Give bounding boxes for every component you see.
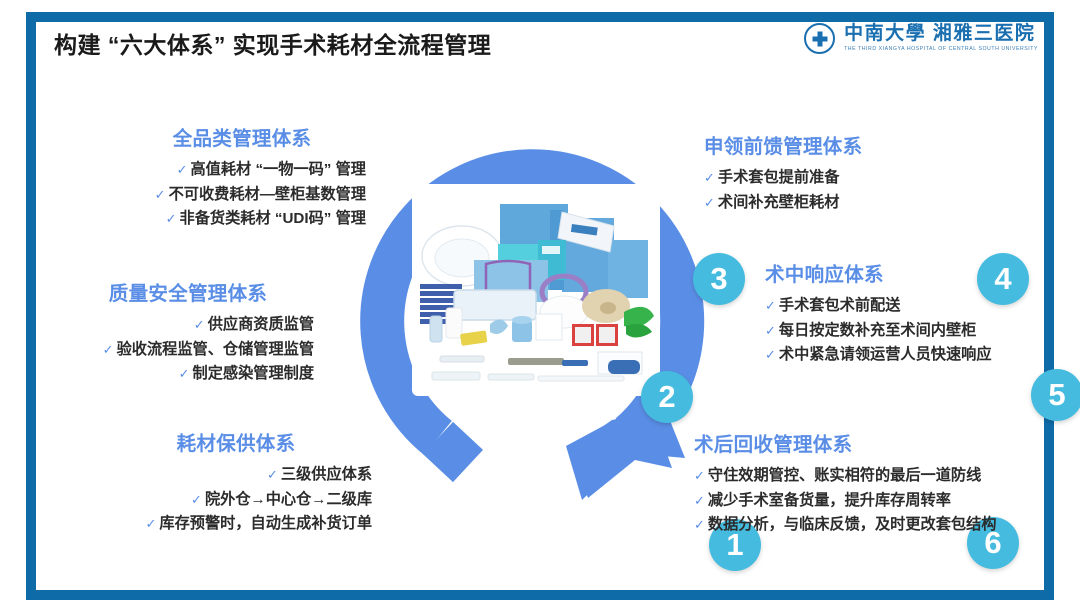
check-icon: ✓: [166, 211, 177, 226]
list-item: ✓手术套包提前准备: [704, 166, 994, 191]
check-icon: ✓: [177, 162, 188, 177]
list-item: ✓守住效期管控、账实相符的最后一道防线: [694, 464, 1024, 489]
list-item: ✓减少手术室备货量，提升库存周转率: [694, 489, 1024, 514]
hospital-name-en: THE THIRD XIANGYA HOSPITAL OF CENTRAL SO…: [844, 47, 1038, 52]
cycle-badge-2[interactable]: 2: [641, 371, 693, 423]
system-block-4-title: 申领前馈管理体系: [704, 130, 994, 159]
badge-label: 3: [710, 263, 727, 294]
hospital-logo-text: 中南大學 湘雅三医院 THE THIRD XIANGYA HOSPITAL OF…: [844, 24, 1038, 52]
system-block-3-title: 全品类管理体系: [118, 122, 366, 151]
check-icon: ✓: [145, 516, 156, 531]
system-block-4-list: ✓手术套包提前准备 ✓术间补充壁柜耗材: [704, 166, 994, 215]
system-block-1-title: 耗材保供体系: [100, 427, 372, 456]
check-icon: ✓: [704, 170, 715, 185]
check-icon: ✓: [155, 187, 166, 202]
list-item: ✓术中紧急请领运营人员快速响应: [765, 343, 1055, 368]
list-item: ✓验收流程监管、仓储管理监管: [62, 338, 314, 363]
hospital-logo: 中南大學 湘雅三医院 THE THIRD XIANGYA HOSPITAL OF…: [804, 23, 1038, 54]
system-block-3: 全品类管理体系 ✓高值耗材 “一物一码” 管理 ✓不可收费耗材—壁柜基数管理 ✓…: [118, 122, 366, 232]
check-icon: ✓: [194, 317, 205, 332]
system-block-5: 术中响应体系 ✓手术套包术前配送 ✓每日按定数补充至术间内壁柜 ✓术中紧急请领运…: [765, 258, 1055, 368]
list-item: ✓每日按定数补充至术间内壁柜: [765, 319, 1055, 344]
list-item-text: 供应商资质监管: [208, 316, 314, 333]
check-icon: ✓: [103, 342, 114, 357]
hospital-cross-emblem-icon: [804, 23, 835, 54]
system-block-4: 申领前馈管理体系 ✓手术套包提前准备 ✓术间补充壁柜耗材: [704, 130, 994, 215]
list-item: ✓手术套包术前配送: [765, 294, 1055, 319]
surgical-supply-kit-photo: [412, 184, 660, 396]
badge-label: 5: [1048, 379, 1065, 410]
list-item: ✓非备货类耗材 “UDI码” 管理: [118, 207, 366, 232]
list-item-text: 手术套包术前配送: [779, 297, 901, 314]
slide-root: 构建 “六大体系” 实现手术耗材全流程管理 中南大學 湘雅三医院 THE THI…: [0, 0, 1080, 612]
system-block-3-list: ✓高值耗材 “一物一码” 管理 ✓不可收费耗材—壁柜基数管理 ✓非备货类耗材 “…: [118, 158, 366, 232]
check-icon: ✓: [694, 468, 705, 483]
system-block-5-title: 术中响应体系: [765, 258, 1055, 287]
list-item: ✓术间补充壁柜耗材: [704, 191, 994, 216]
list-item-text: 数据分析，与临床反馈，及时更改套包结构: [708, 516, 997, 533]
check-icon: ✓: [765, 347, 776, 362]
list-item-text: 每日按定数补充至术间内壁柜: [779, 322, 976, 339]
list-item-text: 术间补充壁柜耗材: [718, 194, 840, 211]
check-icon: ✓: [694, 493, 705, 508]
list-item: ✓供应商资质监管: [62, 313, 314, 338]
hospital-name-cn: 中南大學 湘雅三医院: [844, 24, 1038, 43]
badge-label: 2: [658, 381, 675, 412]
check-icon: ✓: [765, 298, 776, 313]
system-block-2-list: ✓供应商资质监管 ✓验收流程监管、仓储管理监管 ✓制定感染管理制度: [62, 313, 314, 387]
system-block-2-title: 质量安全管理体系: [62, 277, 314, 306]
list-item: ✓院外仓→中心仓→二级库: [100, 488, 372, 513]
list-item-text: 院外仓→中心仓→二级库: [205, 491, 372, 508]
list-item-text: 制定感染管理制度: [193, 365, 315, 382]
system-block-5-list: ✓手术套包术前配送 ✓每日按定数补充至术间内壁柜 ✓术中紧急请领运营人员快速响应: [765, 294, 1055, 368]
list-item-text: 手术套包提前准备: [718, 169, 840, 186]
list-item: ✓高值耗材 “一物一码” 管理: [118, 158, 366, 183]
system-block-2: 质量安全管理体系 ✓供应商资质监管 ✓验收流程监管、仓储管理监管 ✓制定感染管理…: [62, 277, 314, 387]
page-title: 构建 “六大体系” 实现手术耗材全流程管理: [54, 26, 491, 60]
check-icon: ✓: [179, 366, 190, 381]
cycle-badge-3[interactable]: 3: [693, 253, 745, 305]
system-block-6-title: 术后回收管理体系: [694, 428, 1024, 457]
check-icon: ✓: [694, 517, 705, 532]
cycle-diagram: 1 2 3 4 5 6: [330, 108, 735, 503]
system-block-1: 耗材保供体系 ✓三级供应体系 ✓院外仓→中心仓→二级库 ✓库存预警时，自动生成补…: [100, 427, 372, 537]
check-icon: ✓: [191, 492, 202, 507]
system-block-1-list: ✓三级供应体系 ✓院外仓→中心仓→二级库 ✓库存预警时，自动生成补货订单: [100, 463, 372, 537]
check-icon: ✓: [267, 467, 278, 482]
list-item-text: 三级供应体系: [281, 466, 372, 483]
check-icon: ✓: [765, 323, 776, 338]
list-item: ✓制定感染管理制度: [62, 362, 314, 387]
list-item-text: 守住效期管控、账实相符的最后一道防线: [708, 467, 981, 484]
list-item: ✓库存预警时，自动生成补货订单: [100, 512, 372, 537]
list-item-text: 库存预警时，自动生成补货订单: [159, 515, 372, 532]
list-item: ✓不可收费耗材—壁柜基数管理: [118, 183, 366, 208]
slide-header: 构建 “六大体系” 实现手术耗材全流程管理 中南大學 湘雅三医院 THE THI…: [26, 12, 1054, 74]
check-icon: ✓: [704, 195, 715, 210]
list-item-text: 减少手术室备货量，提升库存周转率: [708, 492, 951, 509]
list-item-text: 验收流程监管、仓储管理监管: [117, 341, 314, 358]
list-item: ✓数据分析，与临床反馈，及时更改套包结构: [694, 513, 1024, 538]
list-item-text: 高值耗材 “一物一码” 管理: [190, 161, 366, 178]
list-item-text: 术中紧急请领运营人员快速响应: [779, 346, 992, 363]
cycle-badge-5[interactable]: 5: [1031, 369, 1080, 421]
system-block-6: 术后回收管理体系 ✓守住效期管控、账实相符的最后一道防线 ✓减少手术室备货量，提…: [694, 428, 1024, 538]
list-item-text: 不可收费耗材—壁柜基数管理: [169, 186, 366, 203]
system-block-6-list: ✓守住效期管控、账实相符的最后一道防线 ✓减少手术室备货量，提升库存周转率 ✓数…: [694, 464, 1024, 538]
list-item-text: 非备货类耗材 “UDI码” 管理: [180, 210, 366, 227]
list-item: ✓三级供应体系: [100, 463, 372, 488]
